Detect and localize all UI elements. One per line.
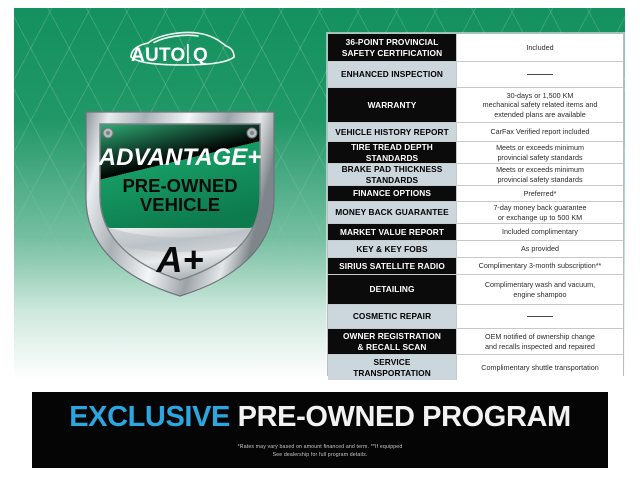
logo-text-auto: AUTO — [131, 45, 185, 66]
value-line: mechanical safety related items and — [483, 100, 598, 109]
banner-title-rest: PRE-OWNED PROGRAM — [238, 401, 571, 433]
screw-icon-left — [103, 128, 113, 138]
label-line: SAFETY CERTIFICATION — [342, 48, 442, 58]
promo-graphic: AUTO Q — [0, 0, 640, 480]
table-row-label: SERVICETRANSPORTATION — [328, 355, 456, 380]
table-row-label: MONEY BACK GUARANTEE — [328, 202, 456, 223]
value-line: Complimentary shuttle transportation — [481, 363, 598, 372]
table-row: SIRIUS SATELLITE RADIOComplimentary 3-mo… — [328, 258, 623, 275]
advantage-plus-shield-badge: ADVANTAGE+ PRE-OWNED VEHICLE A+ — [72, 100, 288, 300]
value-dash — [527, 316, 553, 317]
table-row-value: Preferred* — [456, 186, 623, 201]
logo-divider — [187, 44, 189, 63]
value-line: 30-days or 1,500 KM — [483, 91, 598, 100]
label-line: WARRANTY — [368, 100, 417, 110]
label-line: BRAKE PAD THICKNESS — [342, 164, 443, 174]
exclusive-program-banner: EXCLUSIVE PRE-OWNED PROGRAM *Rates may v… — [32, 392, 608, 468]
label-line: COSMETIC REPAIR — [353, 311, 431, 321]
pre-owned-program-spec-table: 36-POINT PROVINCIALSAFETY CERTIFICATIONI… — [327, 33, 624, 376]
value-dash — [527, 74, 553, 75]
banner-title: EXCLUSIVE PRE-OWNED PROGRAM — [69, 403, 571, 432]
label-line: TIRE TREAD DEPTH — [351, 142, 433, 152]
table-row-value: Meets or exceeds minimumprovincial safet… — [456, 164, 623, 185]
table-row-label: VEHICLE HISTORY REPORT — [328, 123, 456, 141]
table-row-value: 30-days or 1,500 KMmechanical safety rel… — [456, 88, 623, 122]
value-line: Preferred* — [524, 189, 557, 198]
table-row: WARRANTY30-days or 1,500 KMmechanical sa… — [328, 88, 623, 123]
label-line: STANDARDS — [342, 175, 443, 185]
table-row-label: FINANCE OPTIONS — [328, 186, 456, 201]
value-line: Included — [526, 43, 553, 52]
table-row: 36-POINT PROVINCIALSAFETY CERTIFICATIONI… — [328, 34, 623, 62]
value-line: and recalls inspected and repaired — [485, 342, 595, 351]
value-line: Complimentary 3-month subscription** — [479, 261, 602, 270]
label-line: 36-POINT PROVINCIAL — [342, 37, 442, 47]
label-line: VEHICLE HISTORY REPORT — [335, 127, 449, 137]
table-row: MONEY BACK GUARANTEE7-day money back gua… — [328, 202, 623, 224]
value-line: provincial safety standards — [496, 175, 584, 184]
table-row-label: KEY & KEY FOBS — [328, 241, 456, 257]
badge-subtitle-line1: PRE-OWNED — [122, 175, 237, 196]
value-line: engine shampoo — [485, 290, 595, 299]
badge-subtitle-line2: VEHICLE — [140, 194, 220, 215]
label-line: STANDARDS — [351, 153, 433, 163]
value-line: extended plans are available — [483, 110, 598, 119]
autoiq-logo: AUTO Q — [122, 26, 238, 74]
badge-title: ADVANTAGE+ — [98, 144, 261, 171]
label-line: MARKET VALUE REPORT — [340, 227, 444, 237]
table-row-label: DETAILING — [328, 275, 456, 304]
banner-title-highlight: EXCLUSIVE — [69, 401, 230, 433]
table-row-label: TIRE TREAD DEPTHSTANDARDS — [328, 142, 456, 163]
badge-emblem: A+ — [155, 239, 203, 280]
fineprint-line-2: See dealership for full program details. — [238, 452, 403, 460]
table-row: OWNER REGISTRATION& RECALL SCANOEM notif… — [328, 329, 623, 355]
table-row: MARKET VALUE REPORTIncluded complimentar… — [328, 224, 623, 241]
table-row-label: MARKET VALUE REPORT — [328, 224, 456, 240]
screw-icon-right — [247, 128, 257, 138]
table-row: ENHANCED INSPECTION — [328, 62, 623, 88]
value-line: Meets or exceeds minimum — [496, 165, 584, 174]
table-row-label: BRAKE PAD THICKNESSSTANDARDS — [328, 164, 456, 185]
table-row-value: Included complimentary — [456, 224, 623, 240]
value-line: As provided — [521, 244, 559, 253]
value-line: or exchange up to 500 KM — [493, 213, 586, 222]
value-line: provincial safety standards — [496, 153, 584, 162]
table-row-label: WARRANTY — [328, 88, 456, 122]
value-line: OEM notified of ownership change — [485, 332, 595, 341]
label-line: OWNER REGISTRATION — [343, 331, 441, 341]
table-row: SERVICETRANSPORTATIONComplimentary shutt… — [328, 355, 623, 380]
table-row-value: Complimentary 3-month subscription** — [456, 258, 623, 274]
value-line: Complimentary wash and vacuum, — [485, 280, 595, 289]
table-row: TIRE TREAD DEPTHSTANDARDSMeets or exceed… — [328, 142, 623, 164]
label-line: ENHANCED INSPECTION — [341, 69, 443, 79]
table-row: BRAKE PAD THICKNESSSTANDARDSMeets or exc… — [328, 164, 623, 186]
label-line: DETAILING — [370, 284, 415, 294]
fineprint-line-1: *Rates may vary based on amount financed… — [238, 444, 403, 452]
table-row: VEHICLE HISTORY REPORTCarFax Verified re… — [328, 123, 623, 142]
table-row-value: Meets or exceeds minimumprovincial safet… — [456, 142, 623, 163]
value-line: CarFax Verified report included — [490, 127, 589, 136]
table-row-value: Included — [456, 34, 623, 61]
table-row: DETAILINGComplimentary wash and vacuum,e… — [328, 275, 623, 305]
table-row: KEY & KEY FOBSAs provided — [328, 241, 623, 258]
table-row-label: OWNER REGISTRATION& RECALL SCAN — [328, 329, 456, 354]
label-line: SIRIUS SATELLITE RADIO — [339, 261, 445, 271]
label-line: TRANSPORTATION — [353, 368, 431, 378]
green-background-panel: AUTO Q — [14, 8, 625, 380]
value-line: 7-day money back guarantee — [493, 203, 586, 212]
value-line: Included complimentary — [502, 227, 578, 236]
table-row: FINANCE OPTIONSPreferred* — [328, 186, 623, 202]
label-line: KEY & KEY FOBS — [356, 244, 427, 254]
label-line: MONEY BACK GUARANTEE — [335, 207, 448, 217]
table-row-value: Complimentary shuttle transportation — [456, 355, 623, 380]
logo-text-iq: Q — [193, 45, 208, 66]
table-row-value — [456, 305, 623, 328]
banner-fineprint: *Rates may vary based on amount financed… — [238, 444, 403, 459]
table-row-value — [456, 62, 623, 87]
label-line: FINANCE OPTIONS — [353, 188, 431, 198]
table-row: COSMETIC REPAIR — [328, 305, 623, 329]
table-row-value: Complimentary wash and vacuum,engine sha… — [456, 275, 623, 304]
value-line: Meets or exceeds minimum — [496, 143, 584, 152]
table-row-label: COSMETIC REPAIR — [328, 305, 456, 328]
table-row-label: 36-POINT PROVINCIALSAFETY CERTIFICATION — [328, 34, 456, 61]
table-row-label: ENHANCED INSPECTION — [328, 62, 456, 87]
table-row-value: CarFax Verified report included — [456, 123, 623, 141]
table-row-value: 7-day money back guaranteeor exchange up… — [456, 202, 623, 223]
table-row-label: SIRIUS SATELLITE RADIO — [328, 258, 456, 274]
label-line: & RECALL SCAN — [343, 342, 441, 352]
label-line: SERVICE — [353, 357, 431, 367]
table-row-value: OEM notified of ownership changeand reca… — [456, 329, 623, 354]
table-row-value: As provided — [456, 241, 623, 257]
